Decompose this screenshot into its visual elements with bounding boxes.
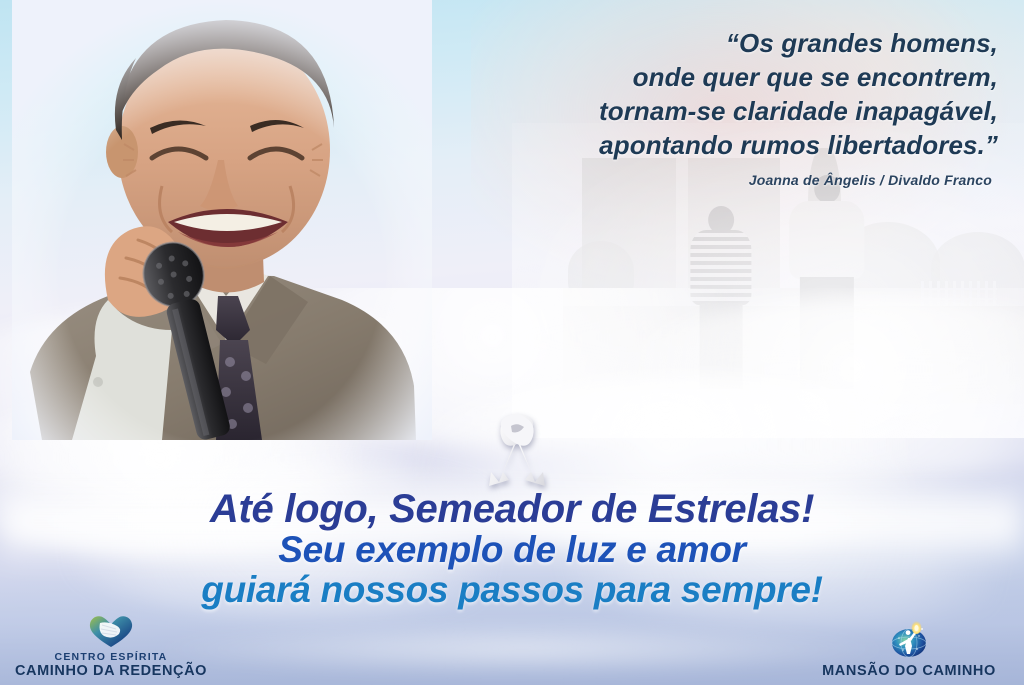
heart-hands-icon [88,614,134,648]
portrait-photo [12,0,432,440]
logo-left-line-2: CAMINHO DA REDENÇÃO [15,663,207,679]
quote-line-4: apontando rumos libertadores.” [438,128,998,162]
headline-block: Até logo, Semeador de Estrelas! Seu exem… [0,488,1024,610]
headline-line-2: Seu exemplo de luz e amor [0,530,1024,570]
logo-right-line-1: MANSÃO DO CAMINHO [822,663,996,679]
quote-line-2: onde quer que se encontrem, [438,60,998,94]
logo-centro-espirita: CENTRO ESPÍRITA CAMINHO DA REDENÇÃO [6,614,216,679]
logo-left-line-1: CENTRO ESPÍRITA [55,651,168,663]
memorial-poster: “Os grandes homens, onde quer que se enc… [0,0,1024,685]
quote-line-3: tornam-se claridade inapagável, [438,94,998,128]
headline-line-3: guiará nossos passos para sempre! [0,570,1024,610]
headline-line-1: Até logo, Semeador de Estrelas! [0,488,1024,530]
logo-mansao-do-caminho: MANSÃO DO CAMINHO [804,620,1014,679]
mourning-ribbon-icon [487,410,547,488]
quote-attribution: Joanna de Ângelis / Divaldo Franco [749,172,992,188]
quote-line-1: “Os grandes homens, [438,26,998,60]
quote-text: “Os grandes homens, onde quer que se enc… [438,26,998,162]
globe-figure-torch-icon [889,620,929,660]
